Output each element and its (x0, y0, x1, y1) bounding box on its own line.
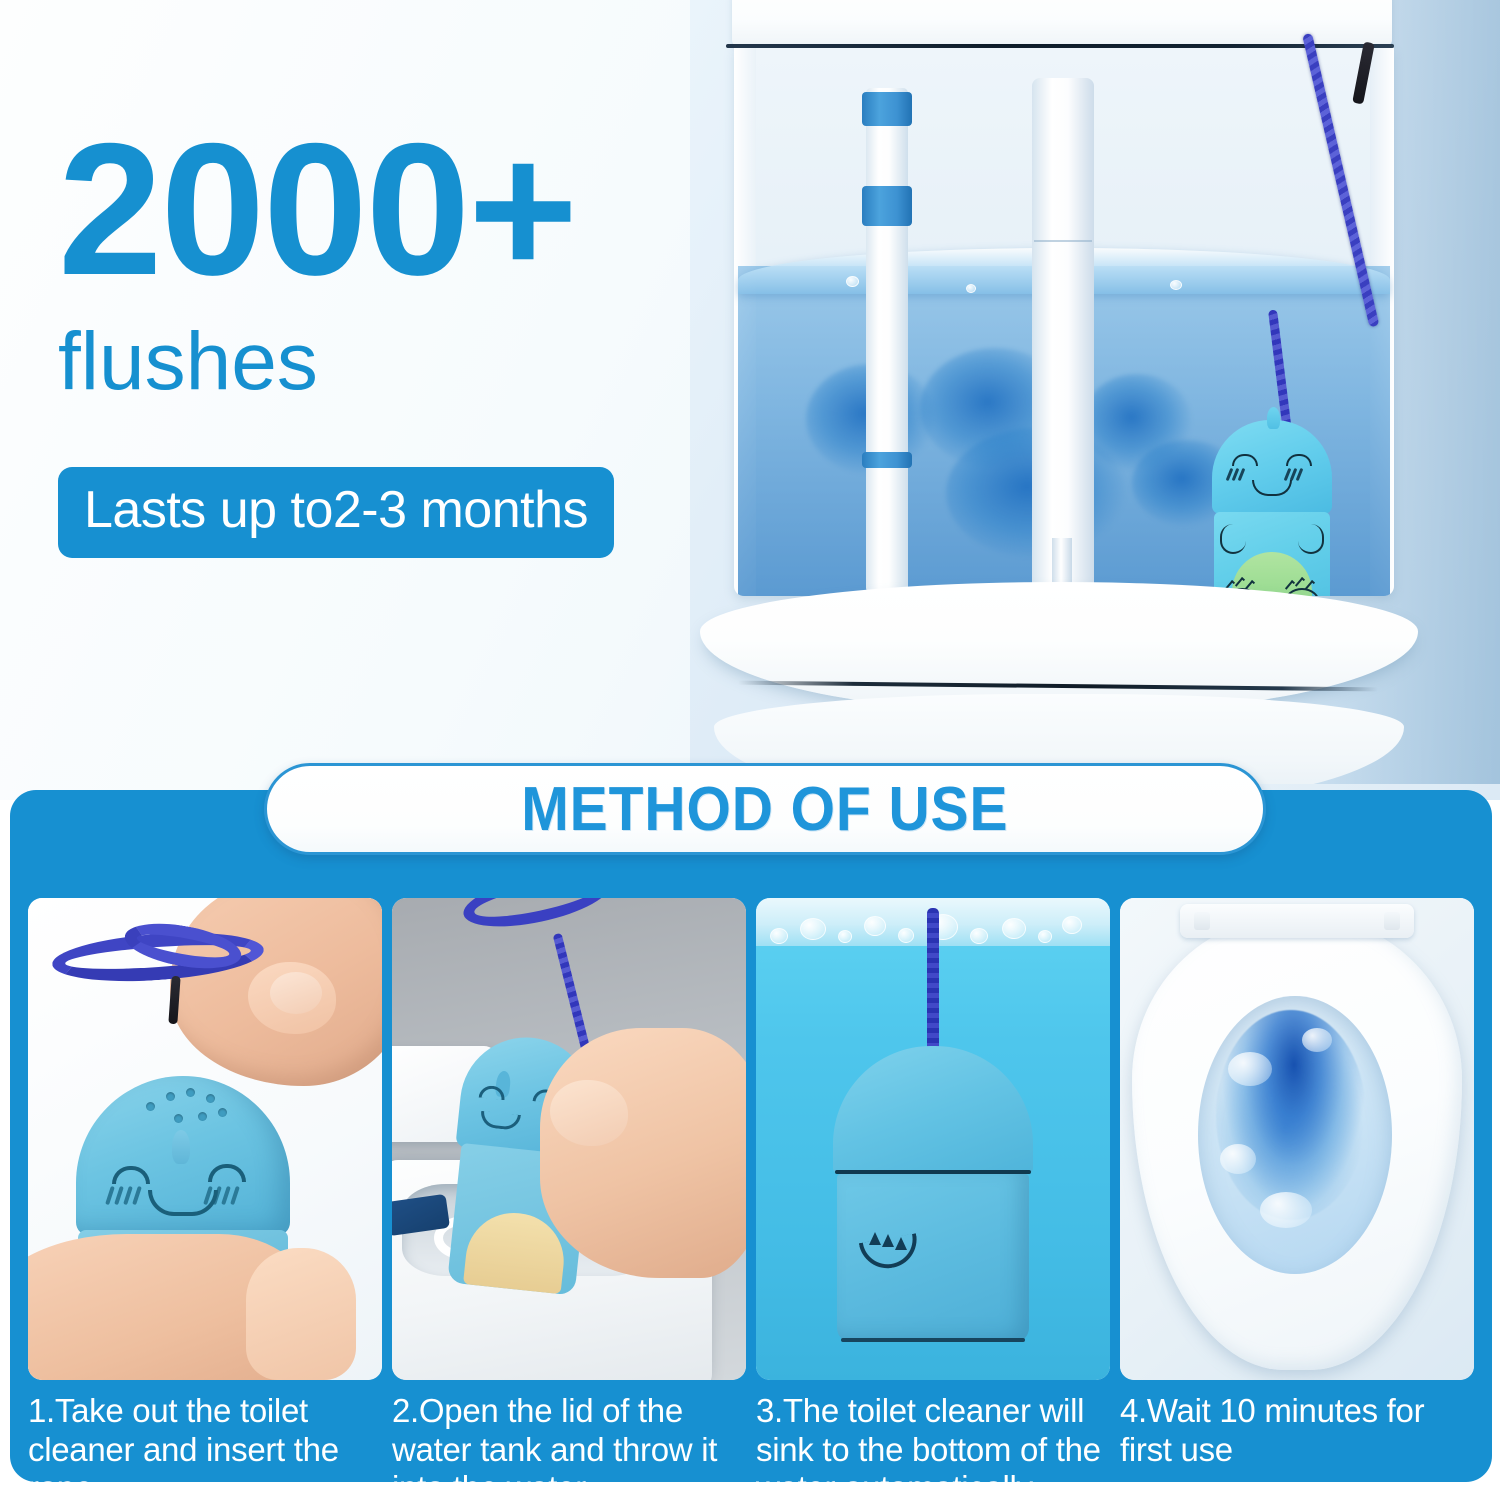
tank-lid (732, 0, 1392, 46)
toilet-seat-hinge (1180, 904, 1414, 938)
infographic-page: 2000+ flushes Lasts up to2-3 months (0, 0, 1500, 1500)
toilet-tank-cutaway-photo (690, 0, 1500, 784)
fill-valve-pipe (866, 88, 908, 593)
tank-body (734, 48, 1394, 596)
step-4-photo (1120, 898, 1474, 1380)
step-photo-grid (28, 898, 1474, 1380)
method-of-use-title-pill: METHOD OF USE (264, 763, 1266, 855)
fill-valve-band-lower (862, 452, 912, 468)
water-bubble (1170, 280, 1182, 290)
flush-count-number: 2000+ (58, 120, 738, 299)
step-1-caption: 1.Take out the toilet cleaner and insert… (28, 1392, 382, 1492)
foam-bubble (1260, 1192, 1312, 1228)
dinosaur-vent-holes (140, 1088, 226, 1128)
overflow-tube (1032, 78, 1094, 596)
hand (540, 1028, 746, 1278)
step-1-photo (28, 898, 382, 1380)
foam-bubble (1228, 1052, 1272, 1086)
hero-section: 2000+ flushes Lasts up to2-3 months (0, 0, 1500, 800)
step-captions-row: 1.Take out the toilet cleaner and insert… (28, 1392, 1474, 1492)
step-2-caption: 2.Open the lid of the water tank and thr… (392, 1392, 746, 1492)
cleaner-cap (833, 1046, 1033, 1174)
headline-block: 2000+ flushes Lasts up to2-3 months (58, 120, 738, 558)
finger (246, 1248, 356, 1380)
overflow-tube-seam (1034, 240, 1092, 242)
blue-water-swirl (1216, 1010, 1366, 1220)
dinosaur-arm-left (1220, 524, 1246, 554)
water-bubble (846, 276, 859, 287)
rope (927, 908, 939, 1052)
step-3-photo (756, 898, 1110, 1380)
dinosaur-cleaner-submerged (833, 1046, 1033, 1346)
fill-valve-band-middle (862, 186, 912, 226)
dinosaur-horn (1267, 407, 1280, 429)
fill-valve-band-upper (862, 92, 912, 126)
dinosaur-cleaner-in-tank (1212, 420, 1332, 596)
flush-count-unit: flushes (58, 321, 738, 403)
thumbnail (270, 972, 322, 1014)
method-of-use-title: METHOD OF USE (521, 774, 1008, 845)
dinosaur-blush-left (1228, 468, 1250, 480)
duration-badge: Lasts up to2-3 months (58, 467, 614, 558)
foam-bubble (1302, 1028, 1332, 1052)
step-2-photo (392, 898, 746, 1380)
cleaner-bottom-seam (841, 1338, 1025, 1342)
water-bubble (966, 284, 976, 293)
dinosaur-head (1212, 420, 1332, 514)
dinosaur-blush-right (1286, 468, 1308, 480)
dinosaur-horn (172, 1130, 190, 1164)
step-3-caption: 3.The toilet cleaner will sink to the bo… (756, 1392, 1110, 1492)
dinosaur-arm-right (1298, 524, 1324, 554)
dinosaur-blush-left (108, 1186, 148, 1204)
step-4-caption: 4.Wait 10 minutes for first use (1120, 1392, 1474, 1492)
toilet-bowl (1198, 996, 1392, 1274)
thumb (550, 1080, 628, 1146)
foam-bubble (1220, 1144, 1256, 1174)
